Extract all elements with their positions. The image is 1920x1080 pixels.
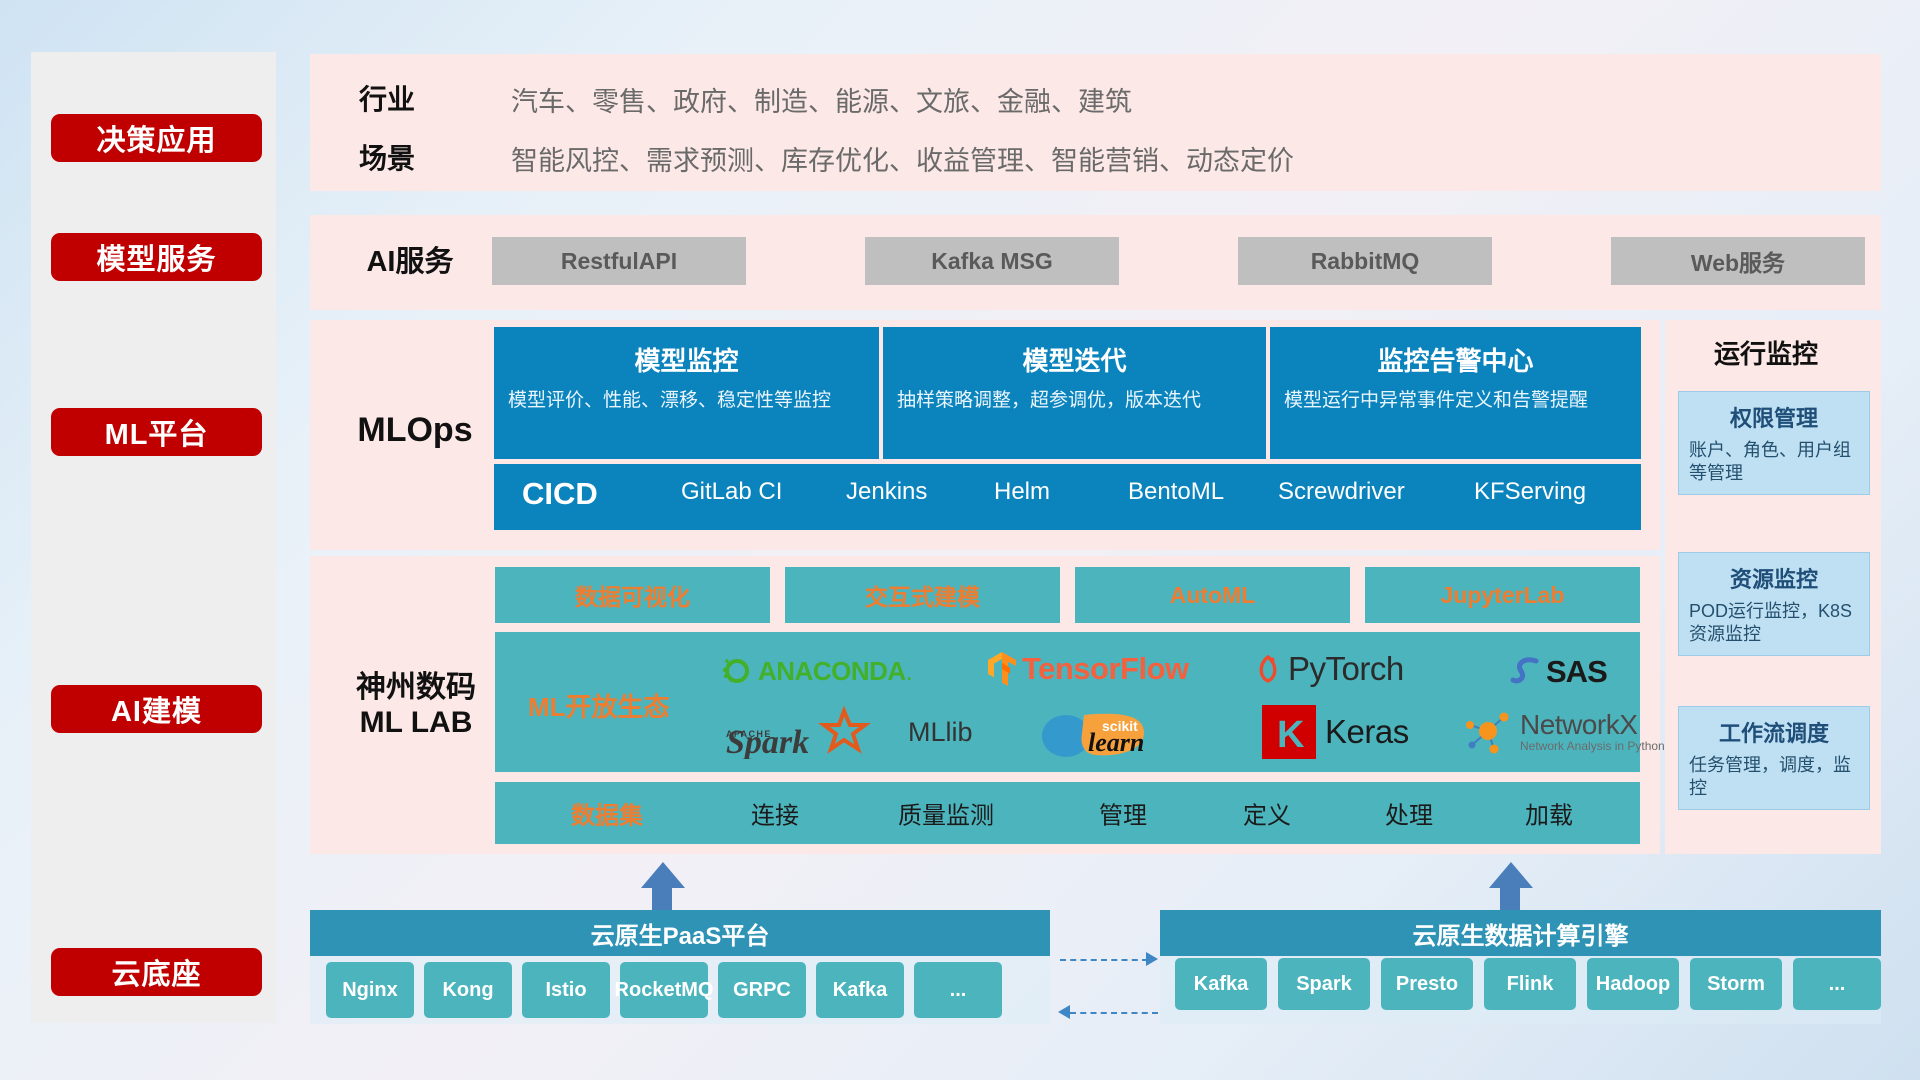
chip-label: Nginx: [342, 979, 398, 1001]
sas-logo: SAS: [1510, 654, 1607, 690]
tier-label-ai-modeling: AI建模: [111, 688, 202, 730]
tool-label: 数据可视化: [575, 578, 690, 612]
card-title: 模型迭代: [883, 341, 1266, 378]
tier-label-cloud-base: 云底座: [111, 951, 201, 993]
chip-label: Kafka: [833, 979, 887, 1001]
ml-lab-label-line1: 神州数码: [356, 670, 476, 705]
cicd-item-kfserving[interactable]: KFServing: [1474, 478, 1580, 506]
ml-lab-tool-data-visualization[interactable]: 数据可视化: [495, 567, 770, 623]
networkx-logo: NetworkX Network Analysis in Python: [1460, 707, 1665, 757]
keras-logo: K Keras: [1262, 705, 1409, 759]
chip-label: Web服务: [1691, 244, 1785, 278]
card-title: 权限管理: [1679, 401, 1869, 433]
cicd-item-jenkins[interactable]: Jenkins: [846, 478, 920, 506]
decision-row-key-scenario: 场景: [359, 137, 415, 177]
cicd-item-gitlab-ci[interactable]: GitLab CI: [681, 478, 831, 506]
card-desc: 模型评价、性能、漂移、稳定性等监控: [494, 388, 879, 414]
arrow-up-data-engine-stem: [1500, 886, 1520, 912]
chip-label: ...: [1829, 973, 1846, 995]
tier-label-ml-platform: ML平台: [105, 411, 209, 453]
card-title: 资源监控: [1679, 562, 1869, 594]
chip-label: Presto: [1396, 973, 1458, 995]
decision-row-key-industry: 行业: [359, 78, 415, 118]
cicd-item-helm[interactable]: Helm: [994, 478, 1104, 506]
dashed-arrow-left-line: [1070, 1012, 1158, 1014]
chip-label: Spark: [1296, 973, 1352, 995]
mlops-card-alert-center[interactable]: 监控告警中心 模型运行中异常事件定义和告警提醒: [1270, 327, 1641, 459]
tool-label: JupyterLab: [1441, 582, 1565, 609]
chip-label: Kafka: [1194, 973, 1248, 995]
cloud-chip-grpc[interactable]: GRPC: [718, 962, 806, 1018]
ai-service-label: AI服务: [330, 237, 490, 287]
cloud-chip-kafka-right[interactable]: Kafka: [1175, 958, 1267, 1010]
chip-label: GRPC: [733, 979, 791, 1001]
sas-logo-text: SAS: [1546, 654, 1607, 690]
chip-label: Kafka MSG: [931, 248, 1052, 275]
chip-label: ...: [950, 979, 967, 1001]
mlops-card-model-monitoring[interactable]: 模型监控 模型评价、性能、漂移、稳定性等监控: [494, 327, 879, 459]
ml-open-ecosystem-label: ML开放生态: [528, 687, 670, 724]
ml-lab-tool-interactive-modeling[interactable]: 交互式建模: [785, 567, 1060, 623]
card-title: 工作流调度: [1679, 716, 1869, 748]
cloud-chip-presto[interactable]: Presto: [1381, 958, 1473, 1010]
tool-label: AutoML: [1170, 582, 1256, 609]
ai-service-chip-restfulapi[interactable]: RestfulAPI: [492, 237, 746, 285]
dataset-bar: 数据集 连接 质量监测 管理 定义 处理 加载: [495, 782, 1640, 844]
anaconda-logo-text: ANACONDA: [758, 656, 906, 687]
card-title: 监控告警中心: [1270, 341, 1641, 378]
dataset-item-processing[interactable]: 处理: [1385, 796, 1433, 831]
chip-label: Storm: [1707, 973, 1765, 995]
ai-service-chip-web-service[interactable]: Web服务: [1611, 237, 1865, 285]
dataset-item-management[interactable]: 管理: [1099, 796, 1147, 831]
cloud-chip-flink[interactable]: Flink: [1484, 958, 1576, 1010]
ml-lab-label: 神州数码 ML LAB: [318, 665, 514, 745]
pytorch-logo: PyTorch: [1253, 650, 1404, 688]
chip-label: Hadoop: [1596, 973, 1670, 995]
mlops-label: MLOps: [330, 400, 500, 460]
keras-logo-text: Keras: [1325, 713, 1409, 751]
dataset-head-label: 数据集: [571, 796, 643, 831]
mlops-card-model-iteration[interactable]: 模型迭代 抽样策略调整，超参调优，版本迭代: [883, 327, 1266, 459]
cloud-data-engine-header: 云原生数据计算引擎: [1160, 910, 1881, 956]
tier-pill-ml-platform[interactable]: ML平台: [51, 408, 262, 456]
spark-mllib-logo: APACHE Spark MLlib: [726, 705, 973, 759]
runtime-monitor-title: 运行监控: [1714, 334, 1818, 371]
chip-label: RabbitMQ: [1311, 248, 1420, 275]
networkx-logo-text: NetworkX: [1520, 711, 1665, 739]
tier-pill-decision[interactable]: 决策应用: [51, 114, 262, 162]
tensorflow-logo-text: TensorFlow: [1022, 651, 1189, 687]
tier-pill-model-service[interactable]: 模型服务: [51, 233, 262, 281]
tool-label: 交互式建模: [865, 578, 980, 612]
card-desc: POD运行监控，K8S资源监控: [1679, 600, 1869, 647]
arrow-up-data-engine-head: [1489, 862, 1533, 888]
cicd-item-bentoml[interactable]: BentoML: [1128, 478, 1220, 506]
cloud-chip-more-right[interactable]: ...: [1793, 958, 1881, 1010]
arrow-up-paas-head: [641, 862, 685, 888]
chip-label: Flink: [1507, 973, 1554, 995]
cloud-paas-title: 云原生PaaS平台: [591, 916, 770, 951]
cloud-chip-hadoop[interactable]: Hadoop: [1587, 958, 1679, 1010]
cloud-chip-storm[interactable]: Storm: [1690, 958, 1782, 1010]
chip-label: RestfulAPI: [561, 248, 677, 275]
arrow-up-paas-stem: [652, 886, 672, 912]
cicd-head-label: CICD: [522, 476, 672, 512]
chip-label: Kong: [442, 979, 493, 1001]
cloud-paas-header: 云原生PaaS平台: [310, 910, 1050, 956]
cloud-chip-kong[interactable]: Kong: [424, 962, 512, 1018]
cloud-chip-more-left[interactable]: ...: [914, 962, 1002, 1018]
card-title: 模型监控: [494, 341, 879, 378]
tensorflow-logo: TensorFlow: [986, 650, 1189, 688]
cloud-chip-rocketmq[interactable]: RocketMQ: [620, 962, 708, 1018]
tier-rail: [31, 52, 276, 1023]
decision-row-value-scenario: 智能风控、需求预测、库存优化、收益管理、智能营销、动态定价: [511, 139, 1294, 178]
cloud-chip-nginx[interactable]: Nginx: [326, 962, 414, 1018]
cloud-chip-kafka-left[interactable]: Kafka: [816, 962, 904, 1018]
svg-text:Spark: Spark: [726, 724, 809, 759]
svg-text:K: K: [1277, 714, 1305, 756]
cloud-chip-istio[interactable]: Istio: [522, 962, 610, 1018]
dashed-arrow-right-head: [1146, 952, 1158, 966]
runtime-card-resource[interactable]: 资源监控 POD运行监控，K8S资源监控: [1678, 552, 1870, 656]
dashed-arrow-left-head: [1058, 1005, 1070, 1019]
chip-label: RocketMQ: [615, 979, 714, 1001]
pytorch-logo-text: PyTorch: [1288, 650, 1404, 688]
tier-pill-ai-modeling[interactable]: AI建模: [51, 685, 262, 733]
runtime-card-workflow[interactable]: 工作流调度 任务管理，调度，监控: [1678, 706, 1870, 810]
ai-service-chip-kafka-msg[interactable]: Kafka MSG: [865, 237, 1119, 285]
dataset-item-quality-monitoring[interactable]: 质量监测: [898, 796, 994, 831]
cicd-item-screwdriver[interactable]: Screwdriver: [1278, 478, 1383, 506]
tier-label-model-service: 模型服务: [96, 236, 216, 278]
ml-lab-tool-jupyterlab[interactable]: JupyterLab: [1365, 567, 1640, 623]
runtime-card-permission[interactable]: 权限管理 账户、角色、用户组等管理: [1678, 391, 1870, 495]
chip-label: Istio: [545, 979, 586, 1001]
cloud-data-engine-title: 云原生数据计算引擎: [1413, 916, 1629, 951]
cloud-chip-spark[interactable]: Spark: [1278, 958, 1370, 1010]
cicd-bar: CICD GitLab CI Jenkins Helm BentoML Scre…: [494, 464, 1641, 530]
card-desc: 抽样策略调整，超参调优，版本迭代: [883, 388, 1266, 414]
card-desc: 模型运行中异常事件定义和告警提醒: [1270, 388, 1641, 414]
svg-text:learn: learn: [1088, 728, 1144, 757]
tier-label-decision: 决策应用: [96, 117, 216, 159]
ml-lab-tool-automl[interactable]: AutoML: [1075, 567, 1350, 623]
dashed-arrow-right-line: [1060, 959, 1148, 961]
tier-pill-cloud-base[interactable]: 云底座: [51, 948, 262, 996]
anaconda-logo: ANACONDA .: [718, 654, 913, 688]
dataset-item-definition[interactable]: 定义: [1243, 796, 1291, 831]
ml-lab-label-line2: ML LAB: [360, 705, 473, 740]
dataset-item-loading[interactable]: 加载: [1525, 796, 1573, 831]
card-desc: 账户、角色、用户组等管理: [1679, 439, 1869, 486]
dataset-item-connect[interactable]: 连接: [751, 796, 799, 831]
ai-service-chip-rabbitmq[interactable]: RabbitMQ: [1238, 237, 1492, 285]
decision-row-value-industry: 汽车、零售、政府、制造、能源、文旅、金融、建筑: [511, 80, 1132, 119]
card-desc: 任务管理，调度，监控: [1679, 754, 1869, 801]
scikit-learn-logo: scikit learn: [1040, 703, 1200, 759]
architecture-diagram: 决策应用 模型服务 ML平台 AI建模 云底座 行业 汽车、零售、政府、制造、能…: [0, 0, 1920, 1080]
